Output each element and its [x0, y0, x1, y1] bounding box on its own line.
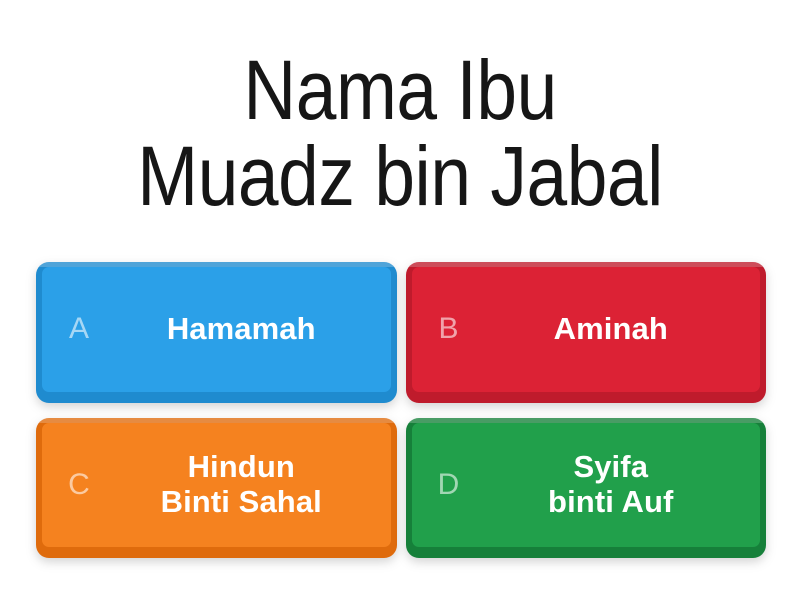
quiz-stage: Nama Ibu Muadz bin Jabal A Hamamah B Ami…	[0, 0, 800, 600]
answer-b-letter-badge: B	[420, 314, 478, 344]
answer-b-label: Aminah	[478, 312, 753, 347]
answer-option-c[interactable]: C Hindun Binti Sahal	[36, 418, 397, 559]
answer-a-letter-badge: A	[50, 314, 108, 344]
answer-c-letter-badge: C	[50, 470, 108, 500]
answer-d-label: Syifa binti Auf	[478, 450, 753, 519]
answer-a-inner: A Hamamah	[36, 262, 397, 403]
answer-a-label: Hamamah	[108, 312, 383, 347]
answer-c-inner: C Hindun Binti Sahal	[36, 418, 397, 559]
answer-c-label: Hindun Binti Sahal	[108, 450, 383, 519]
question-text: Nama Ibu Muadz bin Jabal	[137, 48, 663, 219]
answers-grid: A Hamamah B Aminah C Hindun Binti Sahal	[0, 262, 800, 600]
answer-option-a[interactable]: A Hamamah	[36, 262, 397, 403]
answer-d-inner: D Syifa binti Auf	[406, 418, 767, 559]
answer-option-b[interactable]: B Aminah	[406, 262, 767, 403]
answer-option-d[interactable]: D Syifa binti Auf	[406, 418, 767, 559]
answer-b-inner: B Aminah	[406, 262, 767, 403]
question-area: Nama Ibu Muadz bin Jabal	[0, 0, 800, 262]
answer-d-letter-badge: D	[420, 470, 478, 500]
